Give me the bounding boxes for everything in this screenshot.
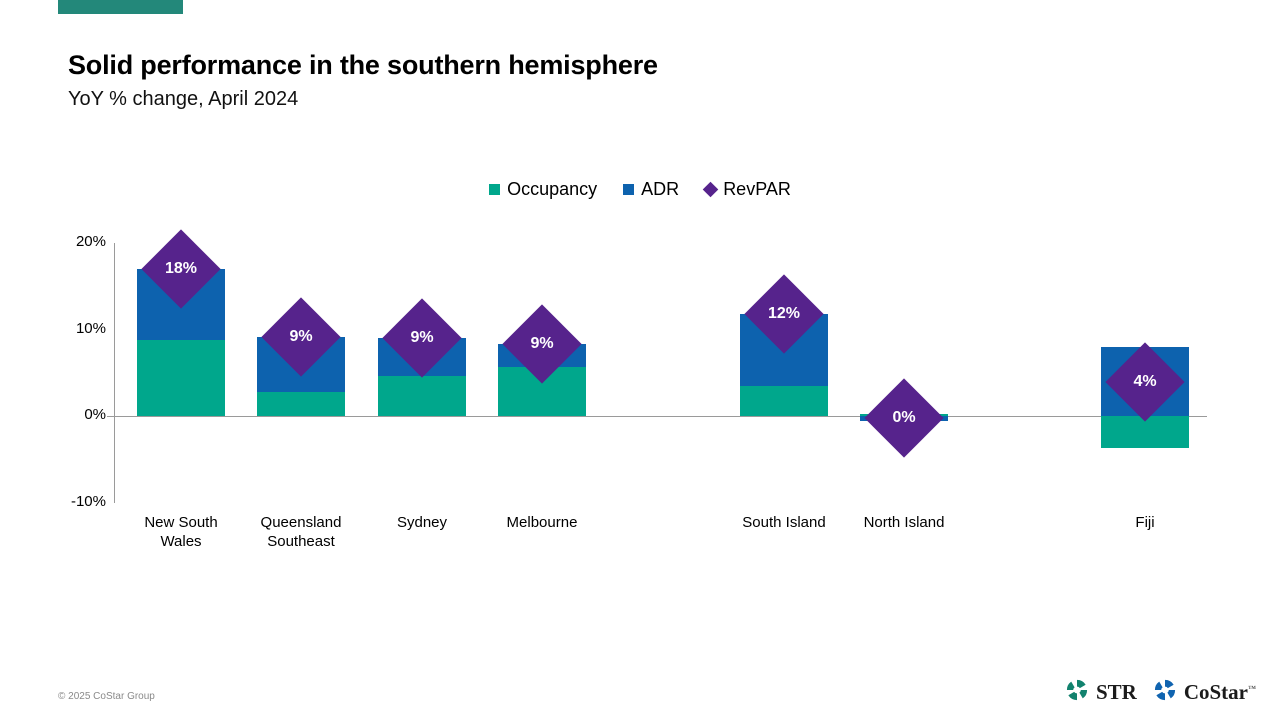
str-wordmark: STR (1096, 682, 1137, 703)
x-axis-category-line: Sydney (342, 513, 502, 532)
x-axis-category-label: North Island (824, 513, 984, 532)
revpar-data-label: 0% (892, 410, 915, 426)
bar-segment-adr[interactable] (137, 269, 225, 340)
legend-item-occupancy[interactable]: Occupancy (489, 180, 597, 198)
revpar-diamond-icon (141, 229, 220, 308)
str-pinwheel-icon (1065, 678, 1089, 707)
revpar-diamond-icon (502, 305, 581, 384)
x-axis-category-line: Queensland (221, 513, 381, 532)
bar-segment-adr[interactable] (498, 344, 586, 367)
revpar-data-label: 18% (165, 261, 197, 277)
x-axis-category-label: Fiji (1065, 513, 1225, 532)
x-axis-category-line: Melbourne (462, 513, 622, 532)
revpar-data-label: 9% (410, 330, 433, 346)
legend-label: RevPAR (723, 180, 791, 198)
costar-logo: CoStar™ (1153, 678, 1256, 707)
legend-item-revpar[interactable]: RevPAR (705, 180, 791, 198)
bar-segment-adr[interactable] (378, 338, 466, 375)
x-axis-category-label: Melbourne (462, 513, 622, 532)
zero-baseline (114, 416, 1207, 417)
revpar-marker[interactable]: 9% (273, 309, 329, 365)
bar-segment-adr[interactable] (860, 416, 948, 420)
legend-swatch-revpar-icon (703, 181, 719, 197)
legend-label: Occupancy (507, 180, 597, 198)
y-axis-tick-mark-zero (107, 416, 114, 417)
x-axis-category-line: South Island (704, 513, 864, 532)
chart-title: Solid performance in the southern hemisp… (68, 50, 658, 81)
revpar-marker[interactable]: 9% (514, 316, 570, 372)
revpar-diamond-icon (261, 298, 340, 377)
x-axis-category-line: Southeast (221, 532, 381, 551)
x-axis-category-line: New South (101, 513, 261, 532)
revpar-data-label: 9% (289, 329, 312, 345)
bar-segment-occupancy[interactable] (1101, 416, 1189, 448)
revpar-diamond-icon (864, 378, 943, 457)
costar-pinwheel-icon (1153, 678, 1177, 707)
trademark-symbol: ™ (1248, 684, 1256, 693)
chart-legend: OccupancyADRRevPAR (0, 180, 1280, 198)
x-axis-category-line: Fiji (1065, 513, 1225, 532)
revpar-marker[interactable]: 12% (756, 286, 812, 342)
bar-segment-adr[interactable] (740, 314, 828, 386)
brand-accent-bar (58, 0, 183, 14)
x-axis-category-label: New SouthWales (101, 513, 261, 551)
revpar-data-label: 9% (530, 336, 553, 352)
y-axis-tick-label: -10% (46, 493, 106, 510)
brand-logos: STR CoStar™ (1065, 678, 1256, 707)
revpar-marker[interactable]: 18% (153, 241, 209, 297)
revpar-diamond-icon (382, 299, 461, 378)
bar-segment-occupancy[interactable] (860, 414, 948, 417)
costar-wordmark: CoStar™ (1184, 682, 1256, 703)
y-axis-tick-label: 0% (46, 406, 106, 423)
y-axis-tick-label: 20% (46, 233, 106, 250)
legend-label: ADR (641, 180, 679, 198)
x-axis-category-label: QueenslandSoutheast (221, 513, 381, 551)
x-axis-category-label: South Island (704, 513, 864, 532)
x-axis-category-label: Sydney (342, 513, 502, 532)
bar-segment-occupancy[interactable] (378, 376, 466, 417)
revpar-data-label: 4% (1133, 374, 1156, 390)
revpar-diamond-icon (744, 274, 823, 353)
str-logo: STR (1065, 678, 1137, 707)
bar-segment-occupancy[interactable] (257, 392, 345, 416)
copyright-text: © 2025 CoStar Group (58, 691, 155, 702)
bar-segment-occupancy[interactable] (498, 367, 586, 416)
legend-swatch-adr-icon (623, 184, 634, 195)
revpar-diamond-icon (1105, 342, 1184, 421)
legend-item-adr[interactable]: ADR (623, 180, 679, 198)
revpar-data-label: 12% (768, 306, 800, 322)
y-axis-line (114, 243, 115, 503)
y-axis-tick-label: 10% (46, 320, 106, 337)
legend-swatch-occupancy-icon (489, 184, 500, 195)
bar-segment-occupancy[interactable] (740, 386, 828, 416)
chart-subtitle: YoY % change, April 2024 (68, 88, 298, 111)
revpar-marker[interactable]: 4% (1117, 354, 1173, 410)
revpar-marker[interactable]: 0% (876, 390, 932, 446)
x-axis-category-line: North Island (824, 513, 984, 532)
x-axis-category-line: Wales (101, 532, 261, 551)
bar-segment-adr[interactable] (1101, 347, 1189, 416)
revpar-marker[interactable]: 9% (394, 310, 450, 366)
bar-segment-occupancy[interactable] (137, 340, 225, 416)
bar-segment-adr[interactable] (257, 337, 345, 392)
